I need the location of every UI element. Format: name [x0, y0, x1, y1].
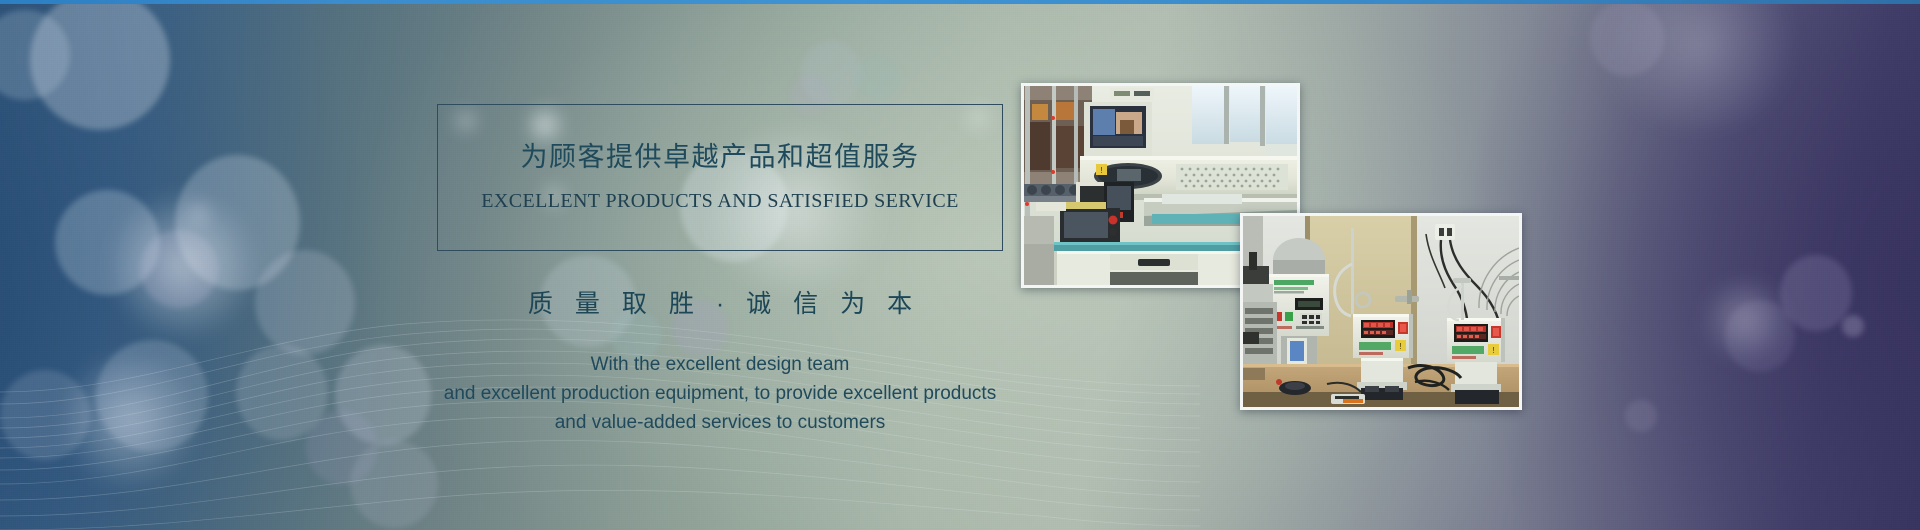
description-line-3: and value-added services to customers [437, 408, 1003, 437]
description-paragraph: With the excellent design team and excel… [437, 350, 1003, 437]
promo-banner: 为顾客提供卓越产品和超值服务 EXCELLENT PRODUCTS AND SA… [0, 0, 1920, 530]
headline-chinese: 为顾客提供卓越产品和超值服务 [521, 144, 920, 171]
svg-text:!: ! [1492, 346, 1494, 355]
slogan-chinese: 质量取胜·诚信为本 [437, 284, 1003, 320]
banner-text-column: 为顾客提供卓越产品和超值服务 EXCELLENT PRODUCTS AND SA… [437, 104, 1003, 437]
top-accent-strip [0, 0, 1920, 4]
description-line-2: and excellent production equipment, to p… [437, 379, 1003, 408]
headline-english: EXCELLENT PRODUCTS AND SATISFIED SERVICE [481, 191, 958, 211]
headline-frame: 为顾客提供卓越产品和超值服务 EXCELLENT PRODUCTS AND SA… [437, 104, 1003, 251]
description-line-1: With the excellent design team [437, 350, 1003, 379]
svg-text:!: ! [1100, 166, 1102, 175]
photo-terminal-crimping-machines[interactable]: ! [1240, 213, 1522, 410]
svg-text:!: ! [1399, 342, 1401, 351]
